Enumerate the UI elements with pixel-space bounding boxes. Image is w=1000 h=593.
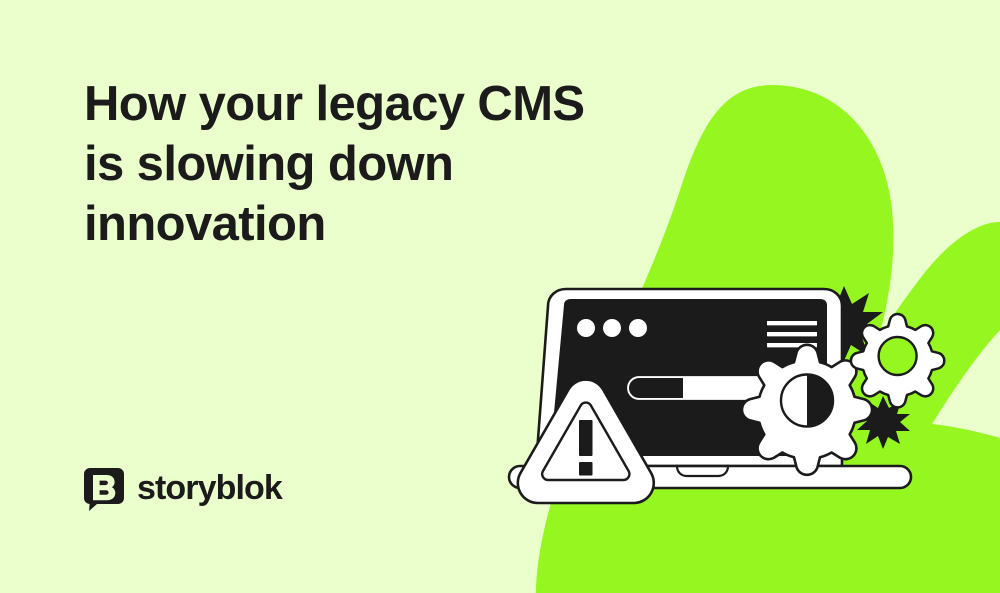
window-dots bbox=[577, 319, 647, 337]
warning-exclamation-dot bbox=[579, 462, 593, 476]
window-dot-2 bbox=[603, 319, 621, 337]
gear-small-hub bbox=[879, 337, 917, 375]
window-dot-1 bbox=[577, 319, 595, 337]
progress-bar-fill bbox=[629, 378, 683, 398]
page-title: How your legacy CMS is slowing down inno… bbox=[84, 74, 684, 254]
hamburger-line-1 bbox=[767, 321, 817, 325]
storyblok-logo[interactable]: storyblok bbox=[84, 468, 282, 511]
storyblok-mark-icon bbox=[84, 468, 124, 511]
illustration-broken-cms bbox=[500, 268, 960, 508]
storyblok-wordmark: storyblok bbox=[137, 471, 282, 508]
gear-small-icon bbox=[851, 314, 944, 407]
hamburger-menu-icon bbox=[767, 321, 817, 347]
warning-exclamation-stem bbox=[579, 420, 593, 456]
blog-hero-card: How your legacy CMS is slowing down inno… bbox=[0, 0, 1000, 593]
hamburger-line-2 bbox=[767, 332, 817, 336]
window-dot-3 bbox=[629, 319, 647, 337]
